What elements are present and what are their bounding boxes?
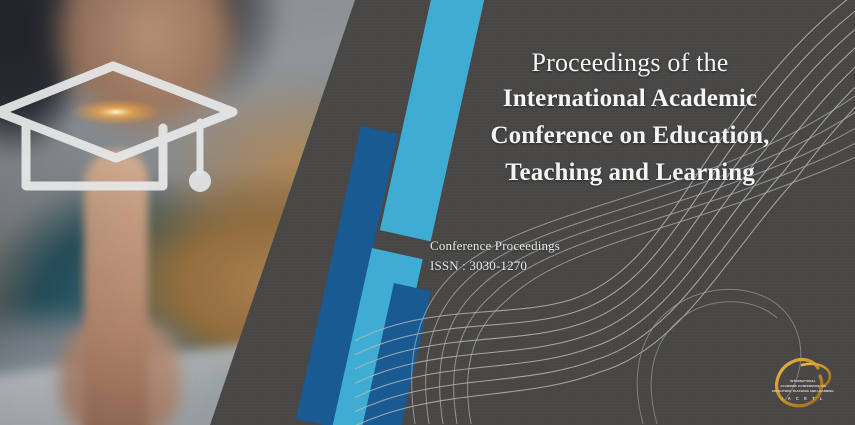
issn-number: ISSN : 3030-1270: [430, 256, 560, 276]
logo-text-line-3: EDUCATION, TEACHING AND LEARNING: [769, 389, 838, 392]
logo-text-line-2: ACADEMIC CONFERENCE ON: [769, 384, 838, 387]
publication-meta: Conference Proceedings ISSN : 3030-1270: [430, 236, 560, 276]
title-line-proceedings: Proceedings of the: [430, 46, 830, 80]
conference-logo: INTERNATIONAL ACADEMIC CONFERENCE ON EDU…: [762, 352, 844, 412]
logo-acronym: I A C E T L: [769, 396, 838, 401]
publication-type: Conference Proceedings: [430, 236, 560, 256]
logo-text-line-1: INTERNATIONAL: [769, 379, 838, 382]
page-title: Proceedings of the International Academi…: [430, 46, 830, 191]
title-line-conference: Conference on Education,: [430, 117, 830, 154]
conference-proceedings-cover: Proceedings of the International Academi…: [0, 0, 855, 425]
title-line-international: International Academic: [430, 80, 830, 117]
title-line-teaching: Teaching and Learning: [430, 154, 830, 191]
